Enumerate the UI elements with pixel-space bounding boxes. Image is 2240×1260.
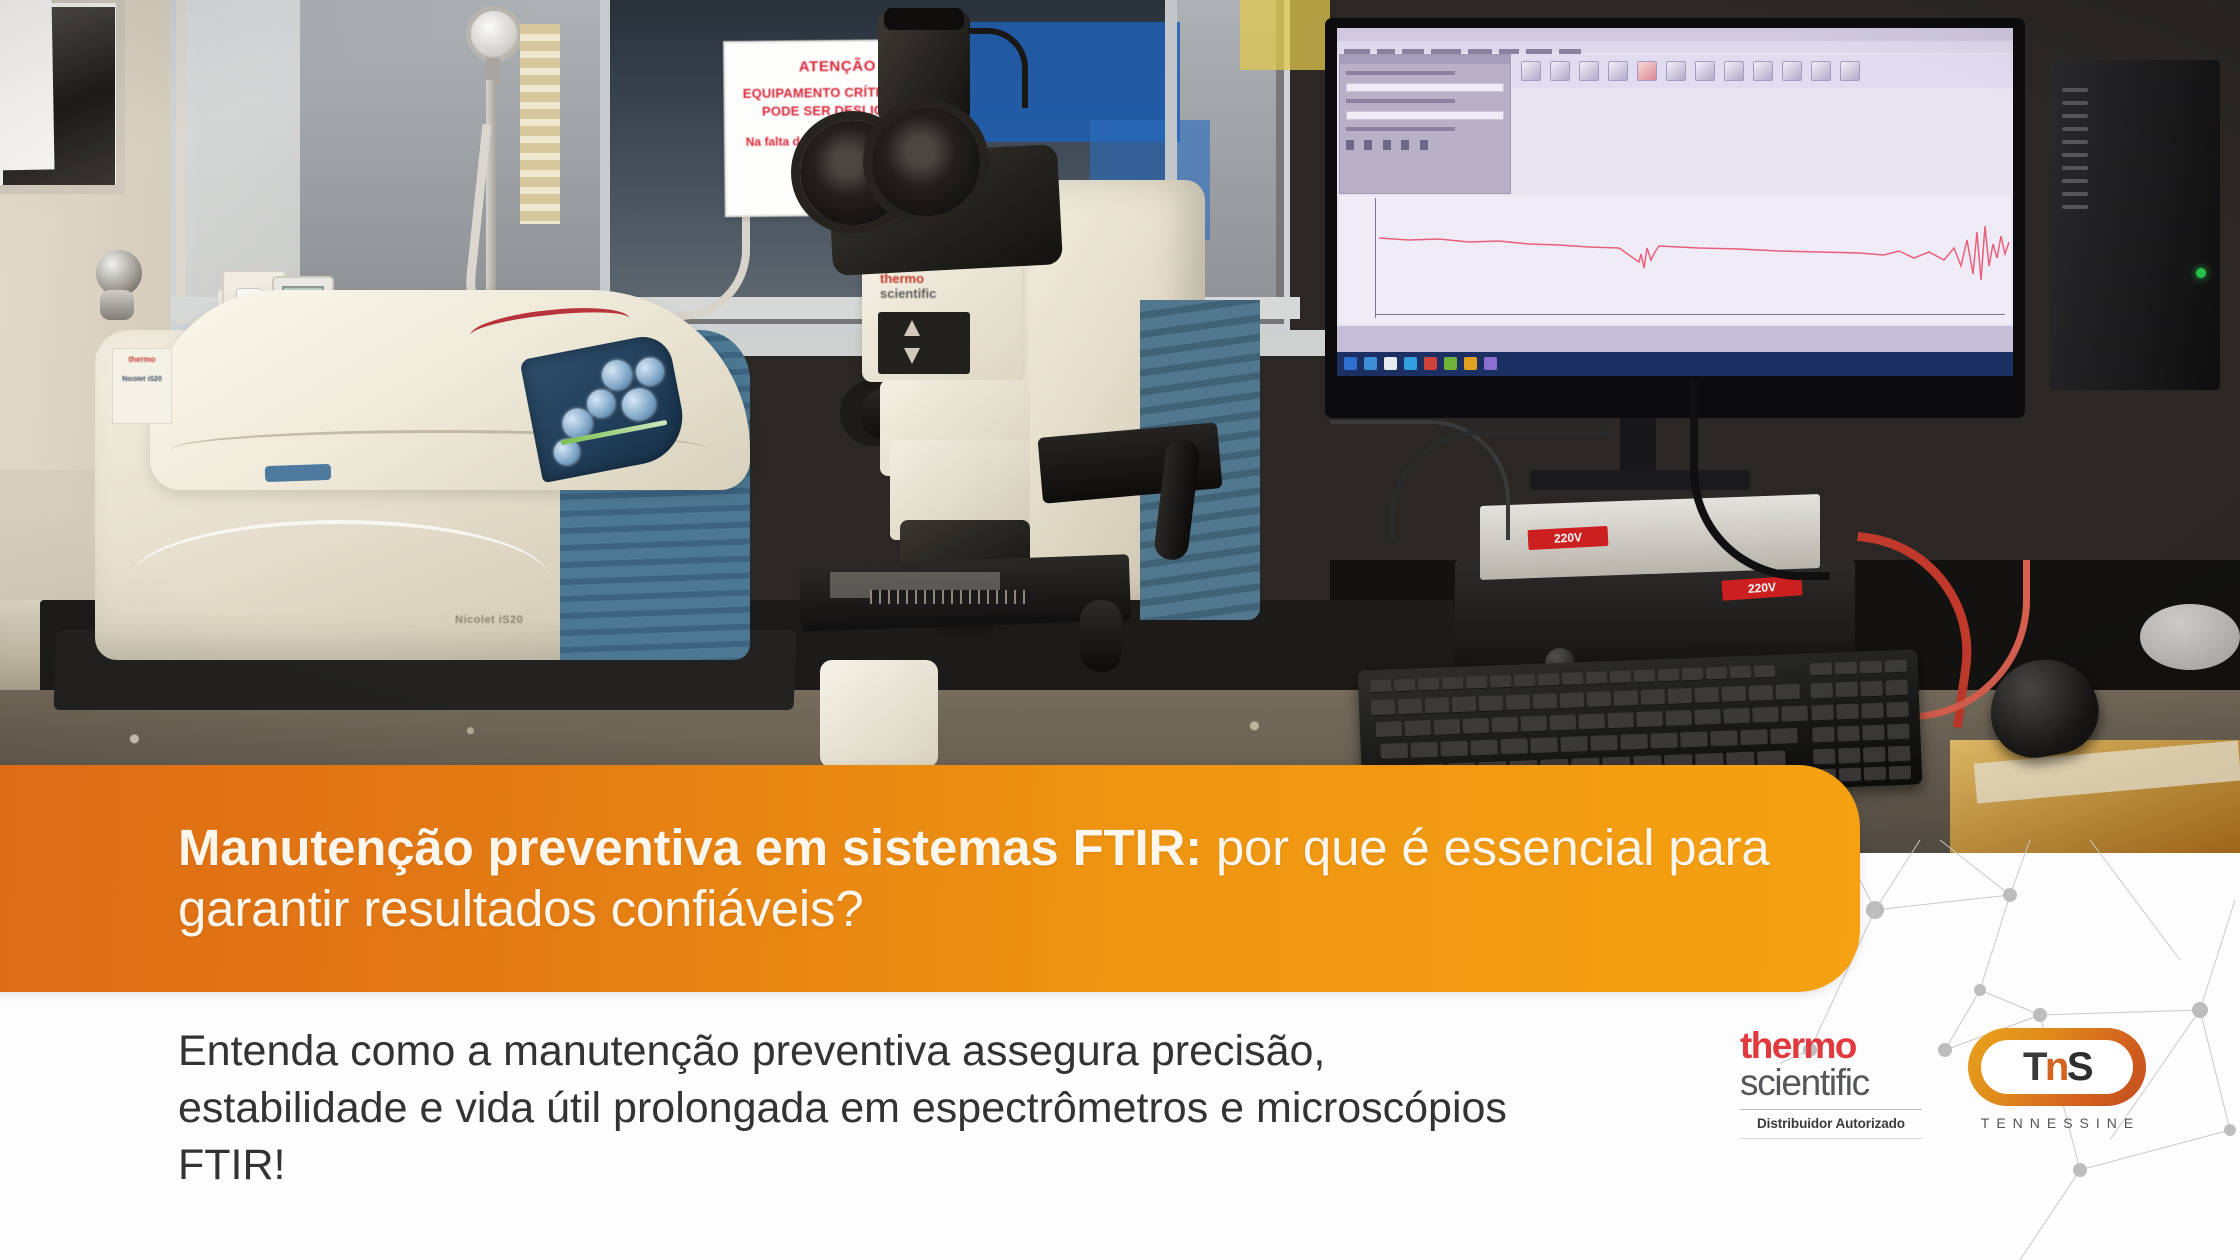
keyboard-key[interactable]	[1695, 687, 1720, 704]
keyboard-key[interactable]	[1425, 697, 1450, 714]
taskbar-icon[interactable]	[1384, 357, 1397, 370]
rack-tick	[520, 24, 560, 34]
keyboard-key[interactable]	[1607, 712, 1634, 729]
toolbar-button[interactable]	[1579, 61, 1599, 81]
keyboard-key[interactable]	[1376, 721, 1403, 738]
taskbar-icon[interactable]	[1344, 357, 1357, 370]
software-dialog-panel[interactable]	[1339, 54, 1511, 194]
thermo-scientific-logo: thermo scientific Distribuidor Autorizad…	[1740, 1028, 1922, 1139]
keyboard-key[interactable]	[1514, 674, 1535, 688]
numpad-key[interactable]	[1835, 682, 1858, 699]
hood-yellow-panel	[1240, 0, 1330, 70]
software-title-bar	[1337, 28, 2013, 41]
numpad-key[interactable]	[1863, 747, 1886, 764]
numpad-key[interactable]	[1836, 704, 1859, 721]
software-menu-bar[interactable]	[1337, 41, 2013, 53]
beam-down-icon	[904, 348, 920, 364]
subtitle-text: Entenda como a manutenção preventiva ass…	[178, 1023, 1538, 1195]
lab-photo: ATENÇÃO EQUIPAMENTO CRÍTICO NÃO PODE SER…	[0, 0, 2240, 853]
keyboard-key[interactable]	[1620, 734, 1648, 751]
beam-up-icon	[904, 320, 920, 336]
door-window	[0, 0, 125, 194]
camera-ring	[884, 8, 964, 30]
numpad-key[interactable]	[1810, 663, 1832, 677]
keyboard-key[interactable]	[1634, 669, 1655, 683]
rack-tick	[520, 75, 560, 85]
numpad-key[interactable]	[1862, 725, 1885, 742]
keyboard-key[interactable]	[1562, 672, 1583, 686]
tns-letter-s: S	[2067, 1047, 2091, 1087]
tower-vent	[2062, 127, 2088, 131]
windows-taskbar[interactable]	[1337, 352, 2013, 376]
ftir-spectrum-curve	[1339, 196, 2011, 324]
keyboard-key[interactable]	[1578, 713, 1605, 730]
keyboard-key[interactable]	[1533, 693, 1558, 710]
keyboard-key[interactable]	[1781, 706, 1808, 723]
dialog-field-2[interactable]	[1346, 111, 1504, 120]
numpad-key[interactable]	[1813, 749, 1836, 766]
toolbar-button[interactable]	[1753, 61, 1773, 81]
dialog-field-1[interactable]	[1346, 83, 1504, 92]
keyboard-key[interactable]	[1636, 711, 1663, 728]
keyboard-key[interactable]	[1706, 667, 1727, 681]
keyboard-key[interactable]	[1740, 729, 1768, 746]
tower-vent	[2062, 192, 2088, 196]
numpad-key[interactable]	[1888, 746, 1911, 763]
keyboard-key[interactable]	[1466, 676, 1487, 690]
tns-letter-t: T	[2023, 1047, 2045, 1087]
tower-vent	[2062, 88, 2088, 92]
toolbar-button[interactable]	[1840, 61, 1860, 81]
keyboard-key[interactable]	[1721, 686, 1746, 703]
power-led-icon	[2196, 268, 2206, 278]
tower-vent	[2062, 114, 2088, 118]
taskbar-icon[interactable]	[1424, 357, 1437, 370]
dialog-title-bar	[1340, 55, 1510, 64]
dialog-label-1	[1346, 71, 1455, 75]
keyboard-key[interactable]	[1748, 685, 1773, 702]
door-posted-paper	[0, 0, 55, 171]
keyboard-key[interactable]	[1723, 708, 1750, 725]
tns-letter-n: n	[2045, 1047, 2067, 1087]
numpad-key[interactable]	[1811, 705, 1834, 722]
numpad-key[interactable]	[1887, 724, 1910, 741]
keyboard-key[interactable]	[1658, 668, 1679, 682]
keyboard-key[interactable]	[1590, 735, 1618, 752]
panel-button-2[interactable]	[634, 355, 667, 388]
keyboard-key[interactable]	[1405, 720, 1432, 737]
keyboard-key[interactable]	[1730, 666, 1751, 680]
taskbar-icon[interactable]	[1464, 357, 1477, 370]
toolbar-button[interactable]	[1637, 61, 1657, 81]
keyboard-key[interactable]	[1410, 742, 1438, 759]
keyboard-key[interactable]	[1560, 736, 1588, 753]
keyboard-key[interactable]	[1560, 692, 1585, 709]
numpad-key[interactable]	[1812, 727, 1835, 744]
keyboard-key[interactable]	[1680, 731, 1708, 748]
pc-tower	[2050, 60, 2220, 390]
numpad-key[interactable]	[1864, 767, 1887, 782]
spectrometer-id-label: thermo Nicolet iS20	[112, 348, 172, 424]
spectrum-plot-area	[1339, 196, 2011, 324]
tns-monogram: TnS	[1981, 1040, 2133, 1094]
numpad-key[interactable]	[1860, 681, 1883, 698]
keyboard-key[interactable]	[1442, 677, 1463, 691]
keyboard-key[interactable]	[1682, 668, 1703, 682]
keyboard-key[interactable]	[1418, 678, 1439, 692]
tower-vent	[2062, 101, 2088, 105]
taskbar-icon[interactable]	[1484, 357, 1497, 370]
keyboard-key[interactable]	[1770, 728, 1798, 745]
social-media-card: ATENÇÃO EQUIPAMENTO CRÍTICO NÃO PODE SER…	[0, 0, 2240, 1260]
toolbar-button[interactable]	[1811, 61, 1831, 81]
pressure-gauge-icon	[466, 6, 522, 62]
keyboard-key[interactable]	[1490, 675, 1511, 689]
keyboard-key[interactable]	[1394, 679, 1415, 693]
monitor-stand	[1620, 418, 1656, 476]
spectrometer-model-text: Nicolet iS20	[455, 614, 523, 626]
numpad-key[interactable]	[1835, 662, 1857, 676]
dialog-icon-5[interactable]	[1420, 140, 1428, 150]
tower-vent	[2062, 205, 2088, 209]
taskbar-icon[interactable]	[1444, 357, 1457, 370]
keyboard-key[interactable]	[1775, 684, 1800, 701]
thermo-divider-bottom	[1740, 1138, 1922, 1139]
tower-vent	[2062, 140, 2088, 144]
panel-button-4[interactable]	[619, 385, 658, 423]
keyboard-key[interactable]	[1610, 670, 1631, 684]
toolbar-button[interactable]	[1724, 61, 1744, 81]
taskbar-icon[interactable]	[1404, 357, 1417, 370]
software-toolbar[interactable]	[1512, 54, 2013, 88]
keyboard-key[interactable]	[1398, 698, 1423, 715]
glass-dish	[2140, 604, 2240, 670]
keyboard-key[interactable]	[1434, 719, 1461, 736]
rack-tick	[520, 109, 560, 119]
eyepiece-right[interactable]	[872, 108, 980, 216]
keyboard-key[interactable]	[1549, 714, 1576, 731]
toolbar-button[interactable]	[1782, 61, 1802, 81]
numpad-key[interactable]	[1885, 680, 1908, 697]
microscope-brand-logo: thermo scientific	[880, 272, 936, 301]
numpad-key[interactable]	[1837, 726, 1860, 743]
spectrometer-label-brand: thermo	[113, 349, 171, 364]
tns-wordmark: TENNESSINE	[1962, 1115, 2152, 1131]
keyboard-key[interactable]	[1650, 733, 1678, 750]
numpad-key[interactable]	[1810, 683, 1833, 700]
spectrometer-label-model: Nicolet iS20	[113, 376, 171, 383]
numpad-key[interactable]	[1860, 661, 1882, 675]
keyboard-key[interactable]	[1614, 690, 1639, 707]
keyboard-key[interactable]	[1506, 694, 1531, 711]
numpad-key[interactable]	[1885, 660, 1907, 674]
page-title-strong: Manutenção preventiva em sistemas FTIR:	[178, 819, 1202, 876]
keyboard-key[interactable]	[1694, 709, 1721, 726]
keyboard-key[interactable]	[1452, 696, 1477, 713]
rack-tick	[520, 92, 560, 102]
keyboard-key[interactable]	[1668, 688, 1693, 705]
microscope-brand-scientific: scientific	[880, 287, 936, 302]
dialog-label-2	[1346, 99, 1455, 103]
tower-vent	[2062, 166, 2088, 170]
keyboard-key[interactable]	[1500, 738, 1528, 755]
thermo-tagline: Distribuidor Autorizado	[1740, 1116, 1922, 1131]
toolbar-button[interactable]	[1666, 61, 1686, 81]
door-latch-icon	[100, 290, 134, 320]
logo-row: thermo scientific Distribuidor Autorizad…	[1740, 1028, 2160, 1173]
keyboard-key[interactable]	[1710, 730, 1738, 747]
toolbar-button[interactable]	[1521, 61, 1541, 81]
page-title: Manutenção preventiva em sistemas FTIR: …	[178, 818, 1800, 939]
toolbar-button[interactable]	[1608, 61, 1628, 81]
tower-vent	[2062, 153, 2088, 157]
tower-vent	[2062, 179, 2088, 183]
thermo-wordmark-scientific: scientific	[1740, 1064, 1922, 1101]
keyboard-key[interactable]	[1665, 710, 1692, 727]
stage-xy-knob[interactable]	[1080, 600, 1122, 672]
numpad-key[interactable]	[1838, 748, 1861, 765]
software-status-bar	[1337, 326, 2013, 352]
keyboard-key[interactable]	[1492, 717, 1519, 734]
keyboard-key[interactable]	[1530, 737, 1558, 754]
keyboard-key[interactable]	[1752, 707, 1779, 724]
numpad-key[interactable]	[1889, 766, 1912, 781]
keyboard-key[interactable]	[1641, 689, 1666, 706]
thermo-divider	[1740, 1109, 1922, 1110]
keyboard-key[interactable]	[1440, 741, 1468, 758]
taskbar-icon[interactable]	[1364, 357, 1377, 370]
keyboard-key[interactable]	[1463, 718, 1490, 735]
toolbar-button[interactable]	[1695, 61, 1715, 81]
thermo-wordmark-thermo: thermo	[1740, 1028, 1922, 1063]
keyboard-key[interactable]	[1371, 699, 1396, 716]
dialog-icon-3[interactable]	[1383, 140, 1391, 150]
headline-banner: Manutenção preventiva em sistemas FTIR: …	[0, 765, 1860, 992]
spectrometer-blue-tab	[265, 464, 332, 482]
monitor-screen[interactable]	[1337, 28, 2013, 376]
numpad-key[interactable]	[1886, 702, 1909, 719]
tns-ring-mark: TnS	[1968, 1028, 2146, 1106]
numpad-key[interactable]	[1861, 703, 1884, 720]
keyboard-key[interactable]	[1520, 716, 1547, 733]
dialog-icon-row[interactable]	[1340, 131, 1510, 155]
rack-tick	[520, 41, 560, 51]
stage-base-block	[820, 660, 938, 768]
dialog-icon-2[interactable]	[1364, 140, 1372, 150]
microscope-brand-thermo: thermo	[880, 272, 936, 287]
keyboard-key[interactable]	[1370, 680, 1391, 694]
panel-button-1[interactable]	[599, 358, 634, 393]
toolbar-button[interactable]	[1550, 61, 1570, 81]
stage-vernier-scale	[870, 590, 1030, 604]
keyboard-key[interactable]	[1470, 739, 1498, 756]
numpad-key[interactable]	[1839, 768, 1862, 783]
keyboard-key[interactable]	[1587, 691, 1612, 708]
keyboard-key[interactable]	[1380, 743, 1408, 760]
dialog-icon-1[interactable]	[1346, 140, 1354, 150]
keyboard-key[interactable]	[1586, 671, 1607, 685]
rack-tick	[520, 58, 560, 68]
keyboard-key[interactable]	[1479, 695, 1504, 712]
keyboard-key[interactable]	[1538, 673, 1559, 687]
dialog-icon-4[interactable]	[1401, 140, 1409, 150]
tns-tennessine-logo: TnS TENNESSINE	[1962, 1028, 2152, 1131]
microscope-beam-path-badge	[878, 312, 970, 374]
keyboard-key[interactable]	[1754, 665, 1775, 679]
